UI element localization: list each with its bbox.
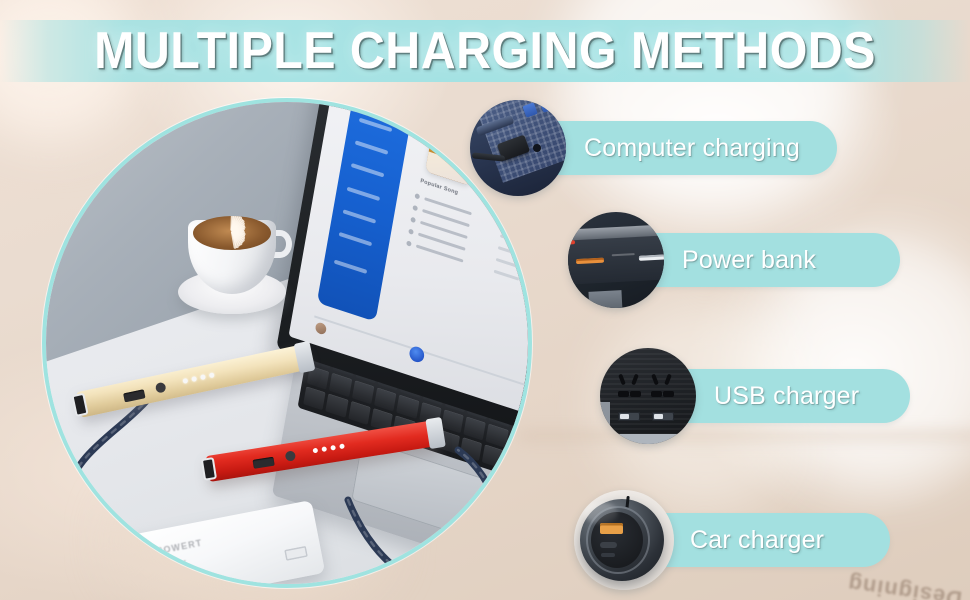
thumbnail-image <box>470 100 566 196</box>
wall-seam <box>105 114 114 172</box>
usb-a-port-white <box>639 254 664 260</box>
power-bank-stand <box>589 290 623 308</box>
usb-port <box>652 412 674 421</box>
album-caption <box>425 150 477 185</box>
method-row-usb-charger[interactable]: USB charger <box>600 348 921 444</box>
method-label: Car charger <box>690 526 824 555</box>
usb-a-port-orange <box>600 523 623 534</box>
power-bank-port <box>284 546 308 561</box>
power-strip-texture <box>600 348 696 444</box>
method-row-computer-charging[interactable]: Computer charging <box>470 100 911 196</box>
laptop-usb-c-port-thumbnail[interactable] <box>470 100 566 196</box>
power-strip-side <box>600 402 610 427</box>
bar-power-button <box>285 451 296 462</box>
hero-scene: Popular Song <box>46 102 528 584</box>
laptop-jack <box>533 144 541 152</box>
method-label: Computer charging <box>584 134 800 163</box>
bar-led-indicators <box>312 444 344 454</box>
usb-a-port-orange <box>576 258 605 264</box>
screen-track-list <box>405 192 528 288</box>
bar-led-indicators <box>182 373 214 385</box>
screen-section-heading: Popular Song <box>420 178 459 196</box>
bar-power-button <box>155 382 167 394</box>
coffee-surface <box>193 216 271 250</box>
screen-sidebar <box>317 98 416 322</box>
specular-highlight <box>584 502 618 524</box>
bar-usb-port <box>124 390 146 403</box>
screen-play-button <box>409 345 426 364</box>
method-row-power-bank[interactable]: Power bank <box>568 212 911 308</box>
latte-art <box>193 216 271 250</box>
thumbnail-image <box>574 490 674 590</box>
method-label: USB charger <box>714 382 859 411</box>
power-bank-badge: 65x <box>164 555 188 574</box>
method-label: Power bank <box>682 246 816 275</box>
port-caption <box>612 253 635 256</box>
usb-c-port <box>601 553 615 557</box>
usb-port <box>618 412 640 421</box>
power-bank-logo: LIPOWERT <box>145 538 203 559</box>
thumbnail-image <box>568 212 664 308</box>
power-bank-ports-thumbnail[interactable] <box>568 212 664 308</box>
method-row-car-charger[interactable]: Car charger <box>574 490 903 590</box>
bar-end-cap <box>201 457 217 481</box>
usb-c-port <box>600 542 617 548</box>
bar-usb-port <box>253 457 275 469</box>
wall-seam <box>42 98 212 210</box>
power-bank-face <box>568 235 664 285</box>
power-strip-sockets-thumbnail[interactable] <box>600 348 696 444</box>
car-charger-thumbnail[interactable] <box>574 490 674 590</box>
power-strip-base <box>617 434 684 444</box>
page-title: MULTIPLE CHARGING METHODS <box>34 18 936 84</box>
album-artwork <box>443 117 468 154</box>
usb-c-port-red <box>568 240 575 244</box>
screen-user-avatar <box>315 322 327 336</box>
thumbnail-image <box>600 348 696 444</box>
hero-product-photo: Popular Song <box>42 98 532 588</box>
